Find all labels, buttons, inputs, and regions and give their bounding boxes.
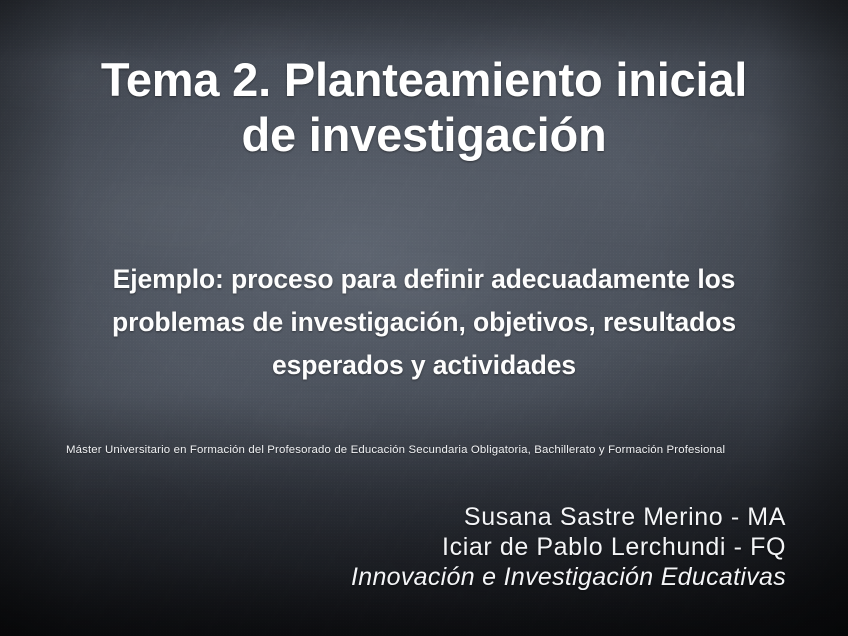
slide-content: Tema 2. Planteamiento inicial de investi…: [0, 0, 848, 636]
author-line-1: Susana Sastre Merino - MA: [351, 502, 786, 532]
subtitle-line-1: Ejemplo: proceso para definir adecuadame…: [60, 258, 788, 301]
slide-subtitle: Ejemplo: proceso para definir adecuadame…: [60, 258, 788, 387]
title-line-1: Tema 2. Planteamiento inicial: [60, 52, 788, 107]
subtitle-line-2: problemas de investigación, objetivos, r…: [60, 301, 788, 344]
program-name-text: Máster Universitario en Formación del Pr…: [66, 442, 772, 458]
author-credits: Susana Sastre Merino - MA Iciar de Pablo…: [351, 502, 786, 592]
slide-title: Tema 2. Planteamiento inicial de investi…: [60, 52, 788, 162]
author-line-2: Iciar de Pablo Lerchundi - FQ: [351, 532, 786, 562]
author-affiliation: Innovación e Investigación Educativas: [351, 562, 786, 592]
presentation-slide: Tema 2. Planteamiento inicial de investi…: [0, 0, 848, 636]
subtitle-line-3: esperados y actividades: [60, 344, 788, 387]
title-line-2: de investigación: [60, 107, 788, 162]
